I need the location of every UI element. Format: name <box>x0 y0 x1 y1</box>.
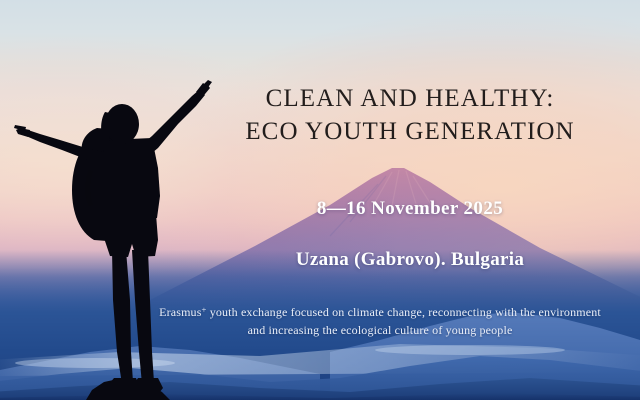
poster-title: CLEAN AND HEALTHY: ECO YOUTH GENERATION <box>190 82 630 148</box>
blurb-program-name: Erasmus <box>159 305 201 319</box>
text-layer: CLEAN AND HEALTHY: ECO YOUTH GENERATION … <box>0 0 640 400</box>
event-location: Uzana (Gabrovo). Bulgaria <box>190 249 630 271</box>
event-dates: 8—16 November 2025 <box>190 198 630 220</box>
blurb-body: youth exchange focused on climate change… <box>207 305 601 337</box>
event-description: Erasmus+ youth exchange focused on clima… <box>150 303 610 339</box>
title-line-2: ECO YOUTH GENERATION <box>190 115 630 148</box>
poster-canvas: CLEAN AND HEALTHY: ECO YOUTH GENERATION … <box>0 0 640 400</box>
title-line-1: CLEAN AND HEALTHY: <box>190 82 630 115</box>
